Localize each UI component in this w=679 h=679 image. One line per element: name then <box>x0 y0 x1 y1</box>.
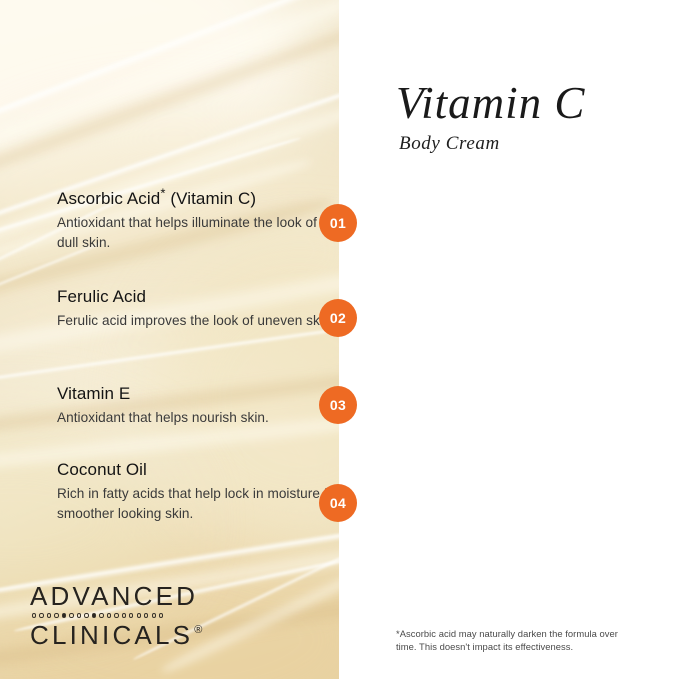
logo-dot <box>114 613 118 617</box>
brand-name-line1: ADVANCED <box>30 582 202 610</box>
logo-dot <box>77 613 81 617</box>
ingredient-description: Rich in fatty acids that help lock in mo… <box>57 484 342 523</box>
ingredient-badge-02: 02 <box>319 299 357 337</box>
logo-dot <box>99 613 103 617</box>
product-subtitle: Body Cream <box>399 132 676 156</box>
cream-swirl-shadow <box>0 3 339 195</box>
ingredient-item-04: Coconut Oil Rich in fatty acids that hel… <box>57 459 342 523</box>
cream-swirl-highlight <box>0 0 339 137</box>
cream-highlight-region <box>0 0 310 210</box>
cream-swirl-highlight <box>0 321 339 388</box>
ingredient-description: Antioxidant that helps nourish skin. <box>57 408 342 428</box>
registered-trademark-icon: ® <box>194 623 202 637</box>
ingredient-name-suffix: (Vitamin C) <box>166 189 257 208</box>
logo-dot <box>129 613 133 617</box>
logo-dot <box>54 613 58 617</box>
logo-dot <box>47 613 51 617</box>
content-panel: Vitamin C Body Cream <box>339 0 679 679</box>
title-block: Vitamin C Body Cream <box>396 78 676 156</box>
brand-logo: ADVANCED CLINICALS ® <box>30 582 202 649</box>
logo-dot <box>137 613 141 617</box>
logo-dot <box>84 613 88 617</box>
logo-dot <box>107 613 111 617</box>
ingredient-name: Vitamin E <box>57 383 342 405</box>
logo-dot <box>32 613 36 617</box>
logo-dot-filled <box>62 613 66 617</box>
logo-dot <box>144 613 148 617</box>
logo-dot-divider <box>32 611 202 620</box>
brand-name-line2-row: CLINICALS ® <box>30 621 202 649</box>
page-title: Vitamin C <box>396 78 676 128</box>
cream-swirl-soft <box>0 0 339 173</box>
ingredient-description: Ferulic acid improves the look of uneven… <box>57 311 342 331</box>
logo-dot <box>69 613 73 617</box>
ingredient-description: Antioxidant that helps illuminate the lo… <box>57 213 342 252</box>
logo-dot <box>122 613 126 617</box>
ingredient-item-01: Ascorbic Acid* (Vitamin C) Antioxidant t… <box>57 188 342 252</box>
ingredient-name: Coconut Oil <box>57 459 342 481</box>
logo-dot <box>39 613 43 617</box>
ingredient-badge-01: 01 <box>319 204 357 242</box>
ingredient-name: Ascorbic Acid* (Vitamin C) <box>57 188 342 210</box>
ingredient-name: Ferulic Acid <box>57 286 342 308</box>
cream-texture-image <box>0 0 339 679</box>
logo-dot <box>152 613 156 617</box>
ingredient-badge-03: 03 <box>319 386 357 424</box>
footnote-text: *Ascorbic acid may naturally darken the … <box>396 628 628 653</box>
logo-dot <box>159 613 163 617</box>
ingredient-item-02: Ferulic Acid Ferulic acid improves the l… <box>57 286 342 331</box>
logo-dot-filled <box>92 613 96 617</box>
brand-name-line2: CLINICALS <box>30 621 193 649</box>
product-infographic: Vitamin C Body Cream Ascorbic Acid* (Vit… <box>0 0 679 679</box>
ingredient-name-text: Ascorbic Acid <box>57 189 160 208</box>
ingredient-item-03: Vitamin E Antioxidant that helps nourish… <box>57 383 342 428</box>
ingredient-badge-04: 04 <box>319 484 357 522</box>
